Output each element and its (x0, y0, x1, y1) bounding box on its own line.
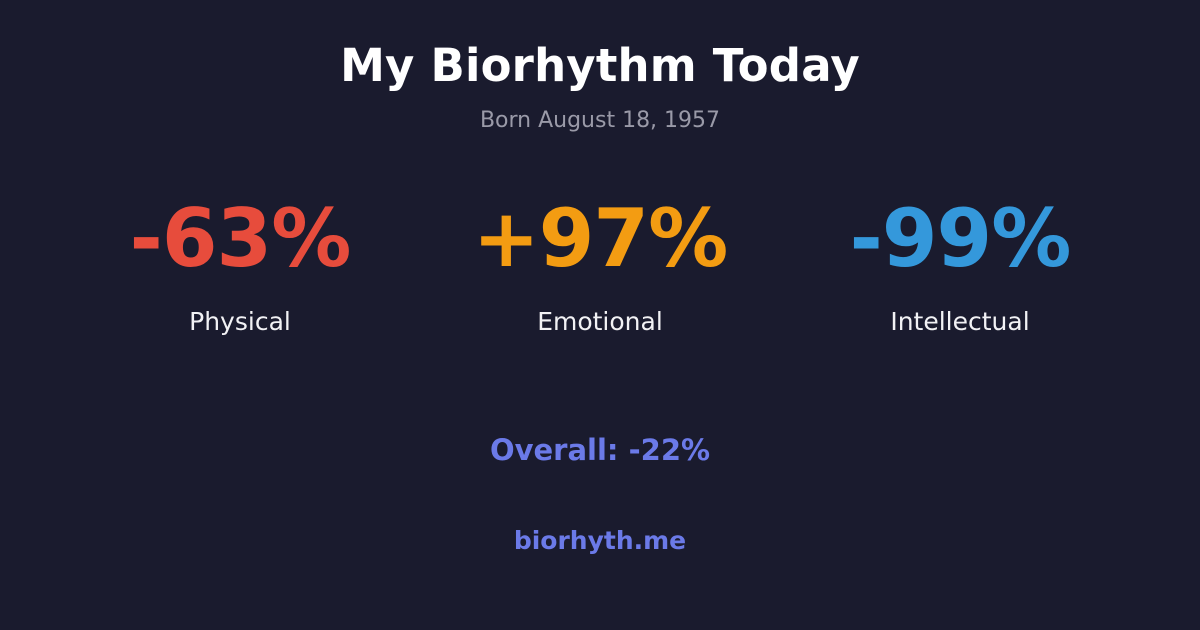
metric-emotional: +97% Emotional (420, 199, 780, 337)
metric-physical: -63% Physical (60, 199, 420, 337)
metric-intellectual-label: Intellectual (890, 307, 1029, 337)
metric-intellectual-value: -99% (850, 199, 1071, 279)
overall-score: Overall: -22% (490, 433, 710, 468)
card-header: My Biorhythm Today Born August 18, 1957 (0, 0, 1200, 135)
metric-physical-label: Physical (189, 307, 291, 337)
page-title: My Biorhythm Today (0, 42, 1200, 89)
metric-physical-value: -63% (130, 199, 351, 279)
metric-emotional-label: Emotional (537, 307, 663, 337)
metric-emotional-value: +97% (473, 199, 728, 279)
biorhythm-metrics-row: -63% Physical +97% Emotional -99% Intell… (60, 199, 1140, 337)
metric-intellectual: -99% Intellectual (780, 199, 1140, 337)
biorhythm-card: My Biorhythm Today Born August 18, 1957 … (0, 0, 1200, 630)
birth-date-subtitle: Born August 18, 1957 (0, 108, 1200, 134)
site-link[interactable]: biorhyth.me (514, 526, 686, 556)
